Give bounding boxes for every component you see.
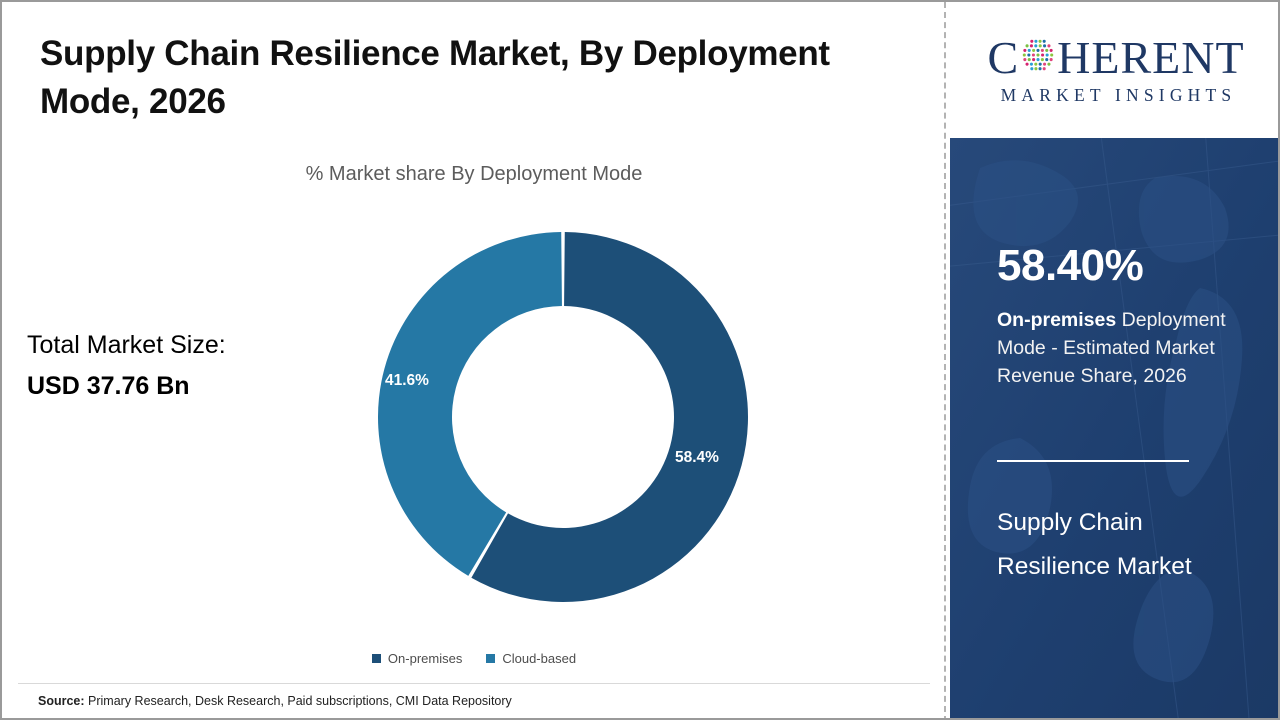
source-label: Source: <box>38 694 85 708</box>
source-note: Source: Primary Research, Desk Research,… <box>38 694 512 708</box>
total-market-size-value: USD 37.76 Bn <box>27 366 327 407</box>
sidebar-content: 58.40% On-premises Deployment Mode - Est… <box>950 138 1280 720</box>
legend-swatch-icon-on-premises <box>372 654 381 663</box>
slice-label-on-premises: 58.4% <box>675 449 719 467</box>
panel-divider <box>944 2 946 720</box>
sidebar-divider <box>997 460 1189 462</box>
sidebar: C HERENT MARKET INSIGHTS <box>950 2 1280 720</box>
legend-item-on-premises[interactable]: On-premises <box>372 651 462 666</box>
brand-logo[interactable]: C HERENT MARKET INSIGHTS <box>950 2 1280 138</box>
dot-globe-icon <box>1020 35 1056 81</box>
legend-label-cloud-based: Cloud-based <box>502 651 576 666</box>
page-title: Supply Chain Resilience Market, By Deplo… <box>40 30 910 127</box>
chart-legend: On-premises Cloud-based <box>2 651 946 666</box>
stat-description: On-premises Deployment Mode - Estimated … <box>997 306 1259 390</box>
logo-word-start: C <box>987 35 1019 81</box>
sidebar-body: 58.40% On-premises Deployment Mode - Est… <box>950 138 1280 720</box>
donut-chart: 41.6% 58.4% <box>378 232 748 602</box>
donut-chart-svg <box>378 232 748 602</box>
sidebar-market-line-2: Resilience Market <box>997 545 1267 589</box>
infographic-frame: Supply Chain Resilience Market, By Deplo… <box>0 0 1280 720</box>
total-market-size: Total Market Size: USD 37.76 Bn <box>27 325 327 406</box>
legend-label-on-premises: On-premises <box>388 651 462 666</box>
total-market-size-label: Total Market Size: <box>27 325 327 366</box>
sidebar-market-line-1: Supply Chain <box>997 501 1267 545</box>
main-panel: Supply Chain Resilience Market, By Deplo… <box>2 2 946 720</box>
stat-value: 58.40% <box>997 244 1143 288</box>
footer-divider <box>18 683 930 684</box>
source-text: Primary Research, Desk Research, Paid su… <box>88 694 512 708</box>
legend-swatch-icon-cloud-based <box>486 654 495 663</box>
sidebar-market-name: Supply Chain Resilience Market <box>997 501 1267 589</box>
stat-description-highlight: On-premises <box>997 309 1116 331</box>
legend-item-cloud-based[interactable]: Cloud-based <box>486 651 576 666</box>
logo-wordmark: C HERENT <box>987 35 1244 81</box>
slice-label-cloud-based: 41.6% <box>385 372 429 390</box>
chart-subtitle: % Market share By Deployment Mode <box>2 163 946 186</box>
logo-tagline: MARKET INSIGHTS <box>996 85 1237 106</box>
logo-word-end: HERENT <box>1057 35 1244 81</box>
